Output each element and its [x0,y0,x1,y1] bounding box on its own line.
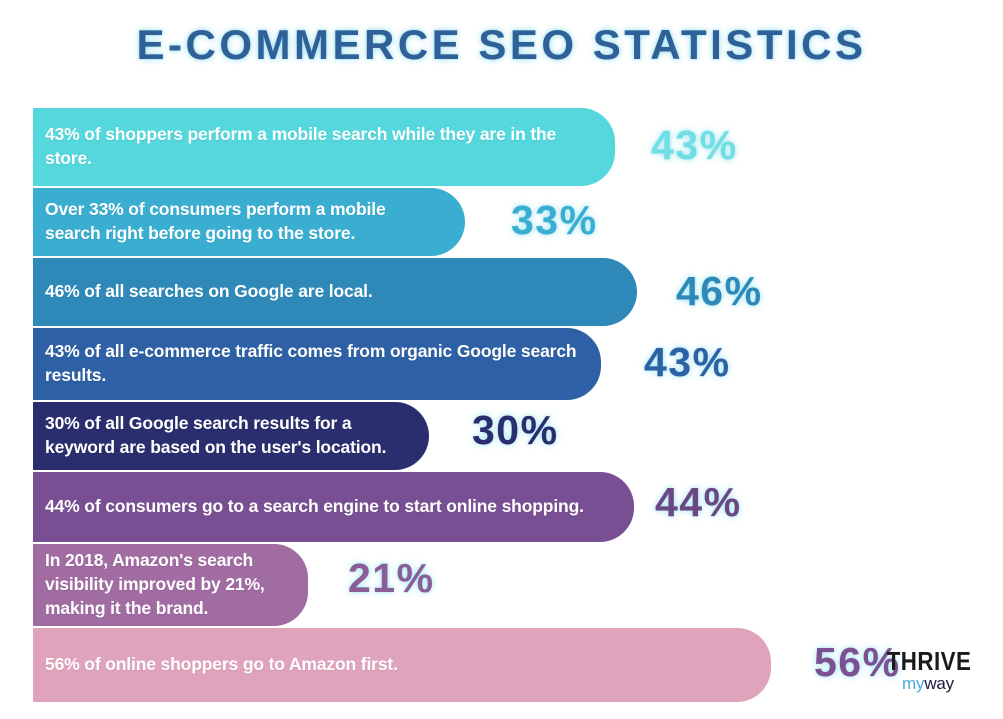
bar-segment[interactable]: 30% of all Google search results for a k… [33,402,429,470]
infographic-canvas: E-COMMERCE SEO STATISTICS 43% of shopper… [0,0,1003,719]
bar-statement-label: 44% of consumers go to a search engine t… [45,495,584,519]
bar-statement-label: 43% of all e-commerce traffic comes from… [45,340,581,388]
bar-percent-label: 43% [651,125,738,166]
bar-segment[interactable]: 46% of all searches on Google are local. [33,258,637,326]
bar-percent-label: 21% [348,558,435,599]
bar-statement-label: In 2018, Amazon's search visibility impr… [45,549,288,621]
bar-segment[interactable]: Over 33% of consumers perform a mobile s… [33,188,465,256]
bar-percent-label: 44% [655,482,742,523]
bar-percent-label: 30% [472,410,559,451]
bar-segment[interactable]: 43% of shoppers perform a mobile search … [33,108,615,186]
bar-chart: 43% of shoppers perform a mobile search … [33,108,973,702]
bar-segment[interactable]: 43% of all e-commerce traffic comes from… [33,328,601,400]
bar-statement-label: 46% of all searches on Google are local. [45,280,373,304]
bar-segment[interactable]: 44% of consumers go to a search engine t… [33,472,634,542]
bar-percent-label: 43% [644,342,731,383]
logo-myway-text: myway [880,675,976,692]
bar-segment[interactable]: 56% of online shoppers go to Amazon firs… [33,628,771,702]
bar-statement-label: 30% of all Google search results for a k… [45,412,409,460]
brand-logo: THRIVE myway [880,648,976,692]
bar-percent-label: 33% [511,200,598,241]
bar-segment[interactable]: In 2018, Amazon's search visibility impr… [33,544,308,626]
bar-percent-label: 46% [676,271,763,312]
bar-statement-label: Over 33% of consumers perform a mobile s… [45,198,445,246]
bar-statement-label: 56% of online shoppers go to Amazon firs… [45,653,398,677]
logo-thrive-text: THRIVE [887,648,970,674]
logo-my-text: my [902,674,924,693]
bar-statement-label: 43% of shoppers perform a mobile search … [45,123,595,171]
page-title: E-COMMERCE SEO STATISTICS [0,24,1003,66]
logo-way-text: way [924,674,954,693]
